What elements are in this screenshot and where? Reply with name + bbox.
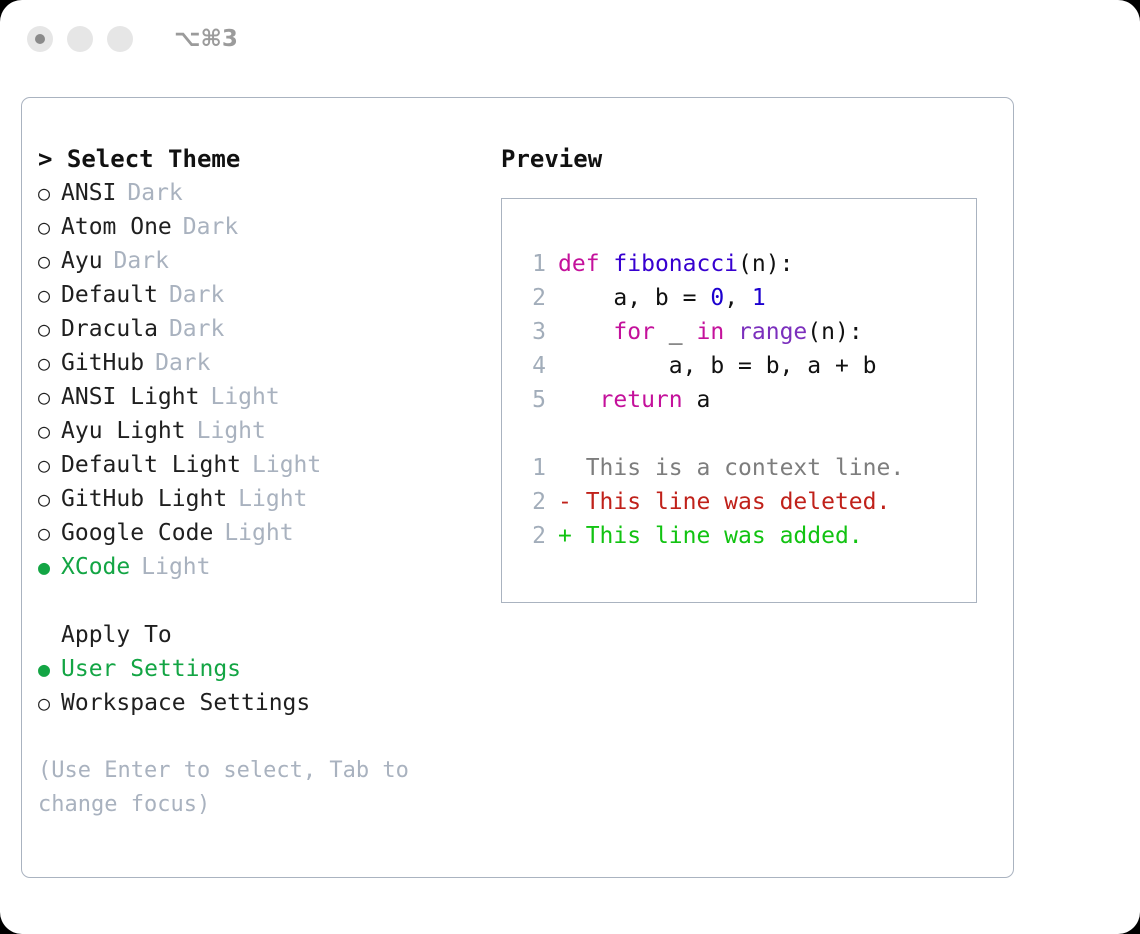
theme-name-label: ANSI xyxy=(61,176,116,210)
radio-selected-icon: ● xyxy=(38,652,61,686)
theme-category-label: Dark xyxy=(155,346,210,380)
code-token xyxy=(558,319,613,345)
main-panel: > Select Theme ○ANSIDark○Atom OneDark○Ay… xyxy=(21,97,1014,878)
theme-list-item[interactable]: ○Ayu LightLight xyxy=(38,414,492,448)
code-line: 2 a, b = 0, 1 xyxy=(520,281,976,315)
diff-sample: 1 This is a context line.2- This line wa… xyxy=(520,451,976,553)
window-dot-2-icon[interactable] xyxy=(67,26,93,52)
theme-list-item[interactable]: ○DefaultDark xyxy=(38,278,492,312)
radio-unselected-icon: ○ xyxy=(38,278,61,312)
apply-to-item[interactable]: ○Workspace Settings xyxy=(38,686,492,720)
theme-category-label: Light xyxy=(224,516,293,550)
theme-category-label: Light xyxy=(252,448,321,482)
line-number: 2 xyxy=(520,519,546,553)
code-line: 4 a, b = b, a + b xyxy=(520,349,976,383)
code-token: (n): xyxy=(807,319,862,345)
theme-category-label: Dark xyxy=(183,210,238,244)
radio-unselected-icon: ○ xyxy=(38,244,61,278)
theme-list-item[interactable]: ●XCodeLight xyxy=(38,550,492,584)
radio-unselected-icon: ○ xyxy=(38,516,61,550)
keyboard-shortcut-label: ⌥⌘3 xyxy=(174,26,238,52)
window-dot-3-icon[interactable] xyxy=(107,26,133,52)
code-token: a xyxy=(683,387,711,413)
window-dot-active-inner xyxy=(35,34,45,44)
theme-list-item[interactable]: ○Google CodeLight xyxy=(38,516,492,550)
code-line: 5 return a xyxy=(520,383,976,417)
code-preview-box: 1def fibonacci(n):2 a, b = 0, 13 for _ i… xyxy=(501,198,977,603)
theme-category-label: Light xyxy=(197,414,266,448)
radio-unselected-icon: ○ xyxy=(38,686,61,720)
theme-name-label: Atom One xyxy=(61,210,172,244)
preview-column: Preview 1def fibonacci(n):2 a, b = 0, 13… xyxy=(492,98,1013,877)
keyboard-hint-text: (Use Enter to select, Tab to change focu… xyxy=(38,754,438,822)
theme-name-label: GitHub Light xyxy=(61,482,227,516)
code-text: a, b = 0, 1 xyxy=(558,281,766,315)
theme-name-label: Ayu xyxy=(61,244,103,278)
diff-text: This line was deleted. xyxy=(572,485,891,519)
theme-category-label: Dark xyxy=(127,176,182,210)
code-token: in xyxy=(696,319,724,345)
code-text: return a xyxy=(558,383,710,417)
code-sample: 1def fibonacci(n):2 a, b = 0, 13 for _ i… xyxy=(520,247,976,417)
theme-category-label: Light xyxy=(210,380,279,414)
select-theme-header: > Select Theme xyxy=(38,142,492,176)
theme-name-label: GitHub xyxy=(61,346,144,380)
code-token: _ xyxy=(655,319,697,345)
theme-list: ○ANSIDark○Atom OneDark○AyuDark○DefaultDa… xyxy=(38,176,492,584)
diff-line: 2- This line was deleted. xyxy=(520,485,976,519)
diff-text: This line was added. xyxy=(572,519,863,553)
code-token: a, b = xyxy=(558,285,710,311)
apply-to-label: User Settings xyxy=(61,652,241,686)
theme-name-label: Default Light xyxy=(61,448,241,482)
code-token: return xyxy=(600,387,683,413)
diff-marker: - xyxy=(558,485,572,519)
apply-to-title: Apply To xyxy=(38,618,492,652)
theme-list-item[interactable]: ○GitHub LightLight xyxy=(38,482,492,516)
code-token: for xyxy=(613,319,655,345)
theme-list-item[interactable]: ○AyuDark xyxy=(38,244,492,278)
theme-name-label: Dracula xyxy=(61,312,158,346)
radio-unselected-icon: ○ xyxy=(38,312,61,346)
diff-line: 2+ This line was added. xyxy=(520,519,976,553)
diff-line: 1 This is a context line. xyxy=(520,451,976,485)
line-number: 2 xyxy=(520,485,546,519)
window-dot-active-icon[interactable] xyxy=(27,26,53,52)
theme-name-label: Default xyxy=(61,278,158,312)
theme-list-item[interactable]: ○GitHubDark xyxy=(38,346,492,380)
radio-unselected-icon: ○ xyxy=(38,210,61,244)
code-token: 0 xyxy=(710,285,724,311)
theme-selection-column: > Select Theme ○ANSIDark○Atom OneDark○Ay… xyxy=(22,98,492,877)
list-spacer xyxy=(38,584,492,618)
radio-unselected-icon: ○ xyxy=(38,482,61,516)
radio-unselected-icon: ○ xyxy=(38,380,61,414)
theme-list-item[interactable]: ○ANSI LightLight xyxy=(38,380,492,414)
radio-unselected-icon: ○ xyxy=(38,176,61,210)
app-window: ⌥⌘3 > Select Theme ○ANSIDark○Atom OneDar… xyxy=(0,0,1140,934)
theme-list-item[interactable]: ○Atom OneDark xyxy=(38,210,492,244)
code-token: (n): xyxy=(738,251,793,277)
code-token: range xyxy=(738,319,807,345)
line-number: 1 xyxy=(520,247,546,281)
code-text: a, b = b, a + b xyxy=(558,349,877,383)
line-number: 2 xyxy=(520,281,546,315)
code-token: , xyxy=(724,285,752,311)
radio-unselected-icon: ○ xyxy=(38,414,61,448)
theme-name-label: ANSI Light xyxy=(61,380,199,414)
code-line: 1def fibonacci(n): xyxy=(520,247,976,281)
radio-selected-icon: ● xyxy=(38,550,61,584)
theme-name-label: XCode xyxy=(61,550,130,584)
code-token: fibonacci xyxy=(613,251,738,277)
theme-list-item[interactable]: ○DraculaDark xyxy=(38,312,492,346)
theme-category-label: Light xyxy=(141,550,210,584)
line-number: 1 xyxy=(520,451,546,485)
theme-category-label: Dark xyxy=(169,278,224,312)
apply-to-item[interactable]: ●User Settings xyxy=(38,652,492,686)
code-token xyxy=(724,319,738,345)
radio-unselected-icon: ○ xyxy=(38,448,61,482)
code-token: a, b = b, a + b xyxy=(558,353,877,379)
code-token: def xyxy=(558,251,600,277)
theme-list-item[interactable]: ○ANSIDark xyxy=(38,176,492,210)
preview-title: Preview xyxy=(501,142,1013,176)
theme-list-item[interactable]: ○Default LightLight xyxy=(38,448,492,482)
diff-marker xyxy=(558,451,572,485)
apply-to-list: ●User Settings○Workspace Settings xyxy=(38,652,492,720)
code-token xyxy=(600,251,614,277)
title-bar: ⌥⌘3 xyxy=(0,0,1140,78)
code-token xyxy=(558,387,600,413)
radio-unselected-icon: ○ xyxy=(38,346,61,380)
diff-marker: + xyxy=(558,519,572,553)
code-text: def fibonacci(n): xyxy=(558,247,793,281)
theme-category-label: Light xyxy=(238,482,307,516)
code-token: 1 xyxy=(752,285,766,311)
diff-text: This is a context line. xyxy=(572,451,904,485)
theme-category-label: Dark xyxy=(169,312,224,346)
code-text: for _ in range(n): xyxy=(558,315,863,349)
apply-to-label: Workspace Settings xyxy=(61,686,310,720)
code-line: 3 for _ in range(n): xyxy=(520,315,976,349)
line-number: 5 xyxy=(520,383,546,417)
line-number: 4 xyxy=(520,349,546,383)
code-gap xyxy=(520,417,976,451)
theme-name-label: Ayu Light xyxy=(61,414,186,448)
theme-name-label: Google Code xyxy=(61,516,213,550)
theme-category-label: Dark xyxy=(114,244,169,278)
line-number: 3 xyxy=(520,315,546,349)
